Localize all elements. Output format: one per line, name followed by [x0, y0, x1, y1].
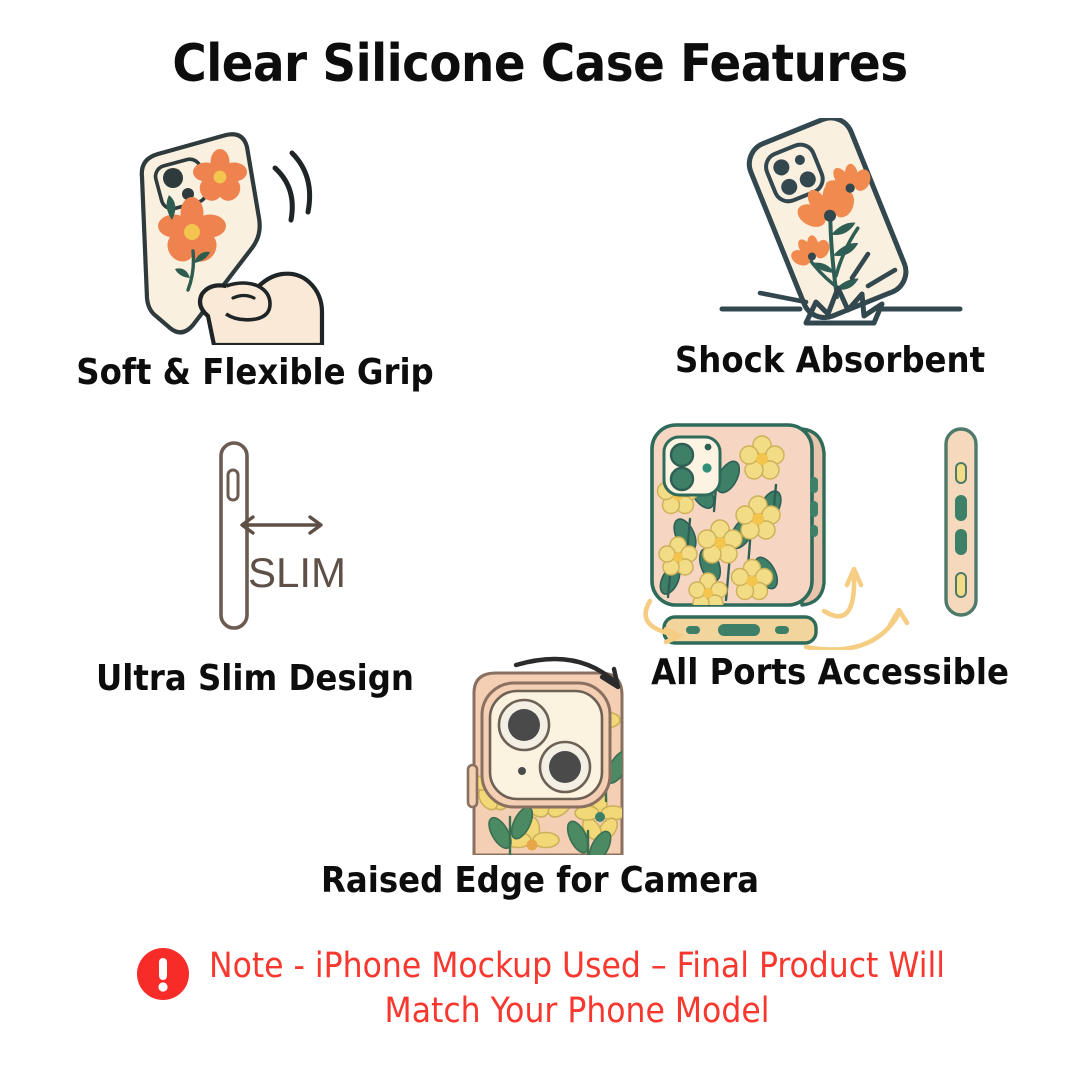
feature-raised-edge-camera: Raised Edge for Camera	[300, 655, 780, 860]
side-edge-buttons	[946, 429, 976, 615]
note-line-1: Note - iPhone Mockup Used – Final Produc…	[209, 944, 945, 989]
feature-label: Shock Absorbent	[610, 340, 1050, 381]
hand-holding-bending-phone-icon	[30, 120, 480, 350]
page-title: Clear Silicone Case Features	[0, 34, 1080, 94]
feature-ultra-slim-design: SLIM Ultra Slim Design	[35, 425, 475, 655]
note-line-2: Match Your Phone Model	[209, 989, 945, 1034]
phone-side-profile-icon: SLIM	[35, 425, 475, 655]
infographic-page: Clear Silicone Case Features	[0, 0, 1080, 1080]
phone-ports-cutouts-icon	[610, 415, 1050, 655]
feature-soft-flexible-grip: Soft & Flexible Grip	[30, 120, 480, 350]
feature-all-ports-accessible: All Ports Accessible	[610, 415, 1050, 655]
feature-label: Soft & Flexible Grip	[30, 352, 480, 393]
note-banner: Note - iPhone Mockup Used – Final Produc…	[0, 944, 1080, 1034]
phone-camera-bump-icon	[300, 655, 780, 860]
phone-impact-burst-icon	[610, 118, 1050, 338]
exclamation-circle-icon	[135, 946, 191, 1007]
feature-shock-absorbent: Shock Absorbent	[610, 118, 1050, 338]
feature-label: Raised Edge for Camera	[300, 860, 780, 901]
slim-measure-label: SLIM	[248, 549, 346, 596]
note-text: Note - iPhone Mockup Used – Final Produc…	[209, 944, 945, 1034]
bottom-edge-ports	[664, 617, 816, 643]
